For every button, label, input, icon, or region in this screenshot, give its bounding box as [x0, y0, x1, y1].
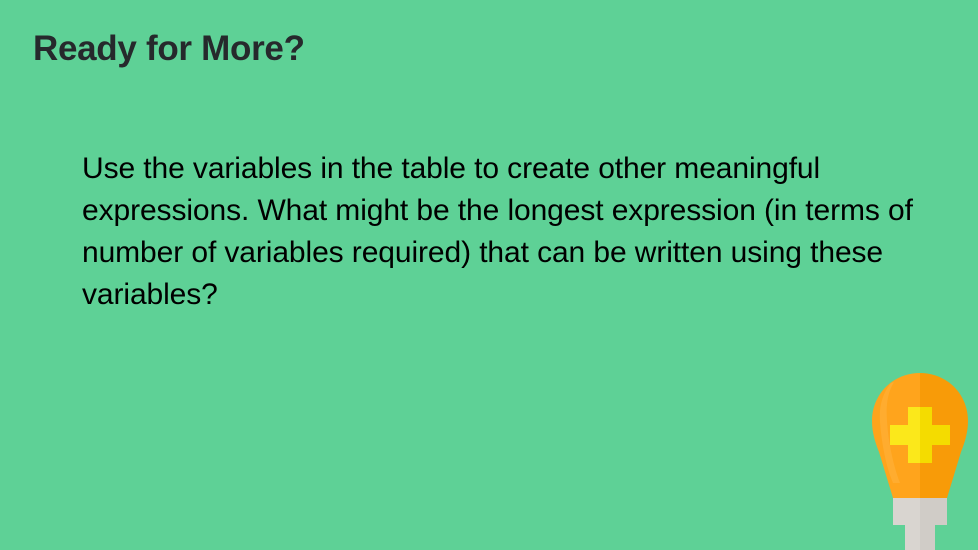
lightbulb-icon	[862, 370, 978, 550]
slide-canvas: Ready for More? Use the variables in the…	[0, 0, 978, 550]
page-title: Ready for More?	[33, 28, 305, 70]
slide-body-text: Use the variables in the table to create…	[82, 148, 928, 316]
